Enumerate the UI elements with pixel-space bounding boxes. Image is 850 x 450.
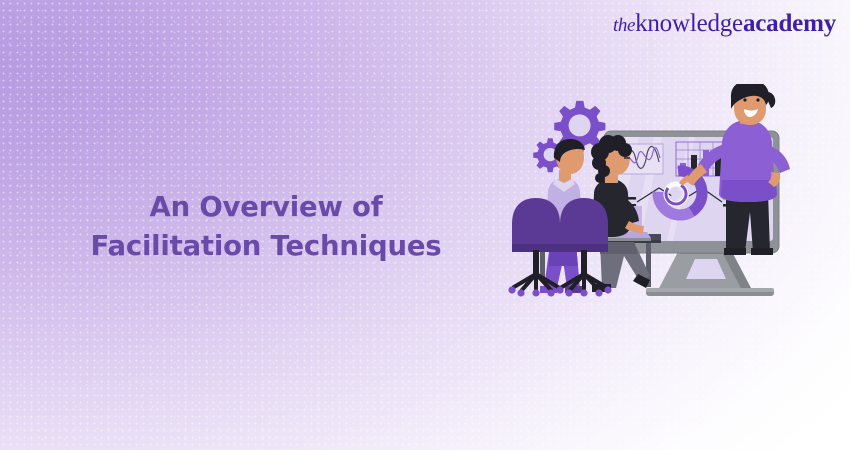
promo-banner: theknowledgeacademy An Overview of Facil… (0, 0, 850, 450)
page-title-line-1: An Overview of (56, 188, 476, 227)
hero-illustration (496, 84, 816, 314)
logo-text-knowledge: knowledge (635, 10, 743, 37)
brand-logo[interactable]: theknowledgeacademy (613, 11, 836, 36)
page-title: An Overview of Facilitation Techniques (56, 188, 476, 266)
logo-text-the: the (613, 15, 635, 36)
monitor-stand (646, 250, 774, 296)
page-title-line-2: Facilitation Techniques (56, 227, 476, 266)
logo-text-academy: academy (743, 10, 836, 37)
